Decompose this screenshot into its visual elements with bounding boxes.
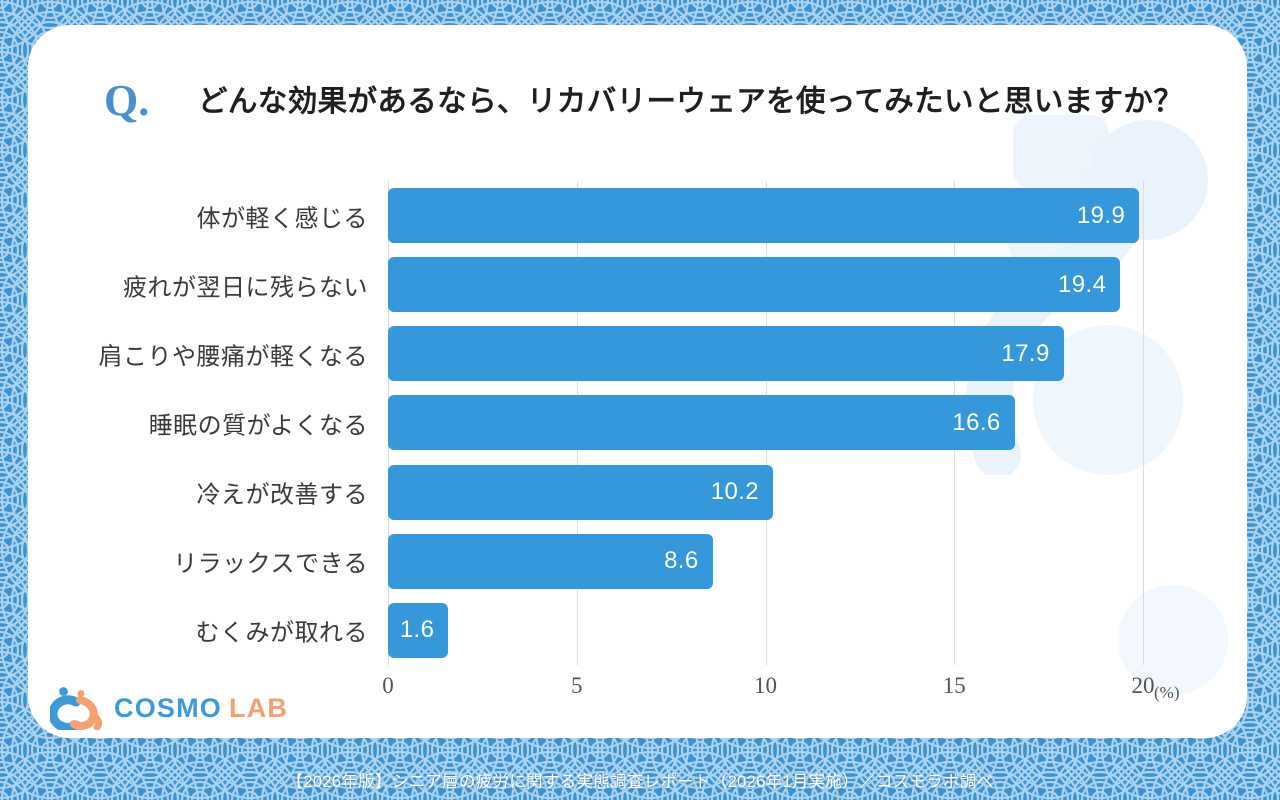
category-label: リラックスできる <box>173 544 368 579</box>
chart-row: 疲れが翌日に残らない19.4 <box>388 250 1143 319</box>
bar[interactable]: 17.9 <box>388 326 1064 381</box>
bar-value-label: 16.6 <box>952 409 1000 437</box>
chart-card: Q. どんな効果があるなら、リカバリーウェアを使ってみたいと思いますか？ 体が軽… <box>28 25 1247 738</box>
gridline <box>1143 181 1144 665</box>
bar[interactable]: 1.6 <box>388 603 448 658</box>
bar-value-label: 19.9 <box>1077 202 1125 230</box>
logo-text-lab: LAB <box>229 693 288 723</box>
bar-value-label: 8.6 <box>664 547 699 575</box>
bar[interactable]: 8.6 <box>388 534 713 589</box>
footer-caption: 【2026年版】シニア層の疲労に関する実態調査レポート（2026年1月実施）／コ… <box>0 768 1280 792</box>
category-label: むくみが取れる <box>196 613 368 648</box>
x-axis-tick-label: 20 <box>1132 673 1155 699</box>
bar-value-label: 10.2 <box>711 478 759 506</box>
cosmo-lab-mark-icon <box>50 686 104 730</box>
chart-row: むくみが取れる1.6 <box>388 596 1143 665</box>
chart-row: リラックスできる8.6 <box>388 527 1143 596</box>
bar[interactable]: 16.6 <box>388 395 1015 450</box>
bar-value-label: 17.9 <box>1001 340 1049 368</box>
x-axis-tick-label: 15 <box>943 673 966 699</box>
x-axis-tick-label: 0 <box>382 673 394 699</box>
category-label: 体が軽く感じる <box>197 198 369 233</box>
bar[interactable]: 10.2 <box>388 465 773 520</box>
category-label: 疲れが翌日に残らない <box>123 267 368 302</box>
chart-row: 肩こりや腰痛が軽くなる17.9 <box>388 319 1143 388</box>
bar-value-label: 1.6 <box>400 616 435 644</box>
bar-value-label: 19.4 <box>1058 271 1106 299</box>
chart-row: 冷えが改善する10.2 <box>388 458 1143 527</box>
category-label: 睡眠の質がよくなる <box>149 405 368 440</box>
chart-row: 体が軽く感じる19.9 <box>388 181 1143 250</box>
category-label: 肩こりや腰痛が軽くなる <box>99 336 369 371</box>
cosmo-lab-logo: COSMOLAB <box>50 680 280 736</box>
x-axis-tick-label: 5 <box>571 673 583 699</box>
x-axis-tick-label: 10 <box>754 673 777 699</box>
plot-area: 体が軽く感じる19.9疲れが翌日に残らない19.4肩こりや腰痛が軽くなる17.9… <box>388 181 1143 665</box>
logo-text-cosmo: COSMO <box>114 693 222 723</box>
bar[interactable]: 19.4 <box>388 257 1120 312</box>
logo-wordmark: COSMOLAB <box>114 693 288 724</box>
x-axis-unit-label: (%) <box>1154 683 1179 703</box>
bar-chart: 体が軽く感じる19.9疲れが翌日に残らない19.4肩こりや腰痛が軽くなる17.9… <box>28 25 1247 738</box>
bar[interactable]: 19.9 <box>388 188 1139 243</box>
category-label: 冷えが改善する <box>197 475 369 510</box>
chart-row: 睡眠の質がよくなる16.6 <box>388 388 1143 457</box>
